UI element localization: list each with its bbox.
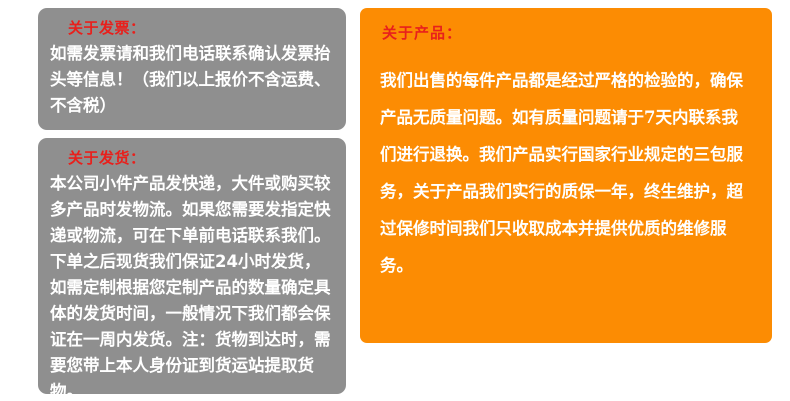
shipping-panel-body: 本公司小件产品发快递，大件或购买较多产品时发物流。如果您需要发指定快递或物流，可… bbox=[50, 171, 334, 401]
product-panel-body: 我们出售的每件产品都是经过严格的检验的，确保产品无质量问题。如有质量问题请于7天… bbox=[380, 62, 754, 284]
invoice-info-panel: 关于发票： 如需发票请和我们电话联系确认发票抬头等信息！（我们以上报价不含运费、… bbox=[38, 8, 346, 130]
shipping-panel-heading: 关于发货： bbox=[68, 148, 334, 168]
invoice-panel-heading: 关于发票： bbox=[68, 18, 334, 38]
product-panel-heading: 关于产品： bbox=[382, 22, 754, 44]
shipping-info-panel: 关于发货： 本公司小件产品发快递，大件或购买较多产品时发物流。如果您需要发指定快… bbox=[38, 138, 346, 394]
invoice-panel-body: 如需发票请和我们电话联系确认发票抬头等信息！（我们以上报价不含运费、不含税） bbox=[50, 41, 334, 119]
product-info-page: 关于发票： 如需发票请和我们电话联系确认发票抬头等信息！（我们以上报价不含运费、… bbox=[0, 0, 790, 401]
product-info-panel: 关于产品： 我们出售的每件产品都是经过严格的检验的，确保产品无质量问题。如有质量… bbox=[360, 8, 772, 343]
